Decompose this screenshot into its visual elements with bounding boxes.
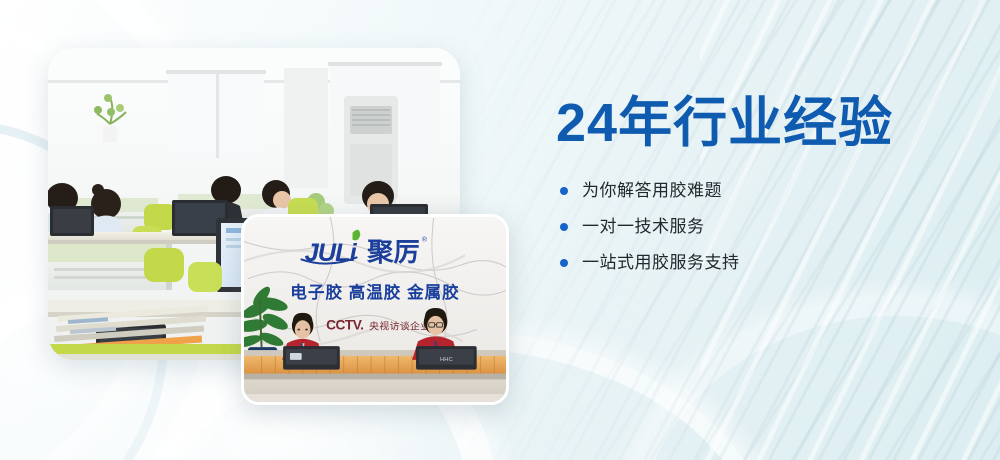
promo-banner: 开放式办公区工作人员在电脑前办公	[0, 0, 1000, 460]
list-item-label: 一对一技术服务	[582, 216, 705, 238]
svg-text:央视访谈企业: 央视访谈企业	[369, 320, 431, 333]
bullet-dot-icon	[560, 259, 568, 267]
svg-text:聚厉: 聚厉	[366, 237, 420, 267]
list-item-label: 为你解答用胶难题	[582, 180, 722, 202]
bullet-dot-icon	[560, 223, 568, 231]
lobby-sign-tagline: 电子胶 高温胶 金属胶	[290, 282, 459, 302]
bullet-dot-icon	[560, 187, 568, 195]
feature-list: 为你解答用胶难题 一对一技术服务 一站式用胶服务支持	[560, 180, 956, 274]
lobby-photo: 公司前台接待处，两名接待员站在前台，背景为大理石形象墙	[241, 214, 509, 405]
lobby-photo-illustration: JULi 聚厉 ® 电子胶 高温胶 金属胶 CCTV. 央视访谈企业	[244, 217, 506, 402]
svg-text:®: ®	[422, 236, 427, 244]
svg-text:HHC: HHC	[440, 357, 453, 363]
svg-text:CCTV.: CCTV.	[326, 318, 363, 333]
list-item: 为你解答用胶难题	[560, 180, 956, 202]
page-title: 24年行业经验	[556, 92, 956, 154]
background-arc-6	[620, 300, 1000, 460]
list-item-label: 一站式用胶服务支持	[582, 252, 740, 274]
list-item: 一对一技术服务	[560, 216, 956, 238]
list-item: 一站式用胶服务支持	[560, 252, 956, 274]
copy-block: 24年行业经验 为你解答用胶难题 一对一技术服务 一站式用胶服务支持	[556, 92, 956, 288]
office-photo-alt: 开放式办公区工作人员在电脑前办公	[48, 48, 49, 49]
